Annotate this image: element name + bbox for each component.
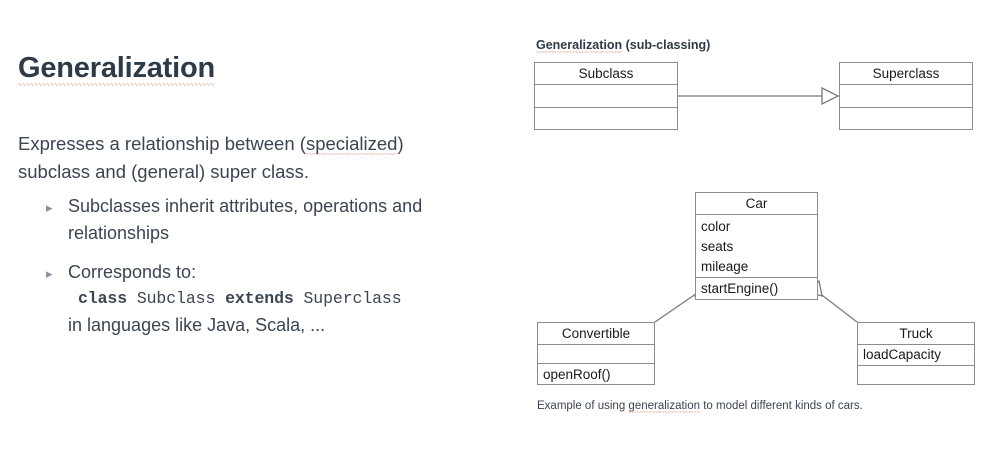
uml-attributes-compartment bbox=[840, 85, 972, 108]
uml-attribute: seats bbox=[701, 237, 817, 257]
bullet-list: ▸ Subclasses inherit attributes, operati… bbox=[18, 193, 488, 351]
uml-operations-compartment: openRoof() bbox=[538, 364, 654, 385]
uml-class-name: Car bbox=[696, 193, 817, 215]
uml-operations-compartment bbox=[858, 366, 974, 385]
list-item: ▸ Corresponds to: class Subclass extends… bbox=[18, 259, 488, 339]
code-identifier-superclass: Superclass bbox=[304, 289, 402, 308]
page-title: Generalization bbox=[18, 52, 215, 85]
uml-class-car: Car color seats mileage startEngine() bbox=[695, 192, 818, 300]
slide-left-content: Generalization Expresses a relationship … bbox=[0, 0, 500, 451]
uml-operations-compartment bbox=[840, 108, 972, 131]
uml-class-superclass: Superclass bbox=[839, 62, 973, 130]
uml-class-truck: Truck loadCapacity bbox=[857, 322, 975, 385]
slide-right-diagrams: Generalization (sub-classing) Subclass S… bbox=[500, 0, 999, 451]
intro-text-part1: Expresses a relationship between ( bbox=[18, 133, 306, 154]
code-space-2 bbox=[215, 289, 225, 308]
uml-class-name: Truck bbox=[858, 323, 974, 345]
uml-attribute: mileage bbox=[701, 257, 817, 277]
code-tail-text: in languages like Java, Scala, ... bbox=[68, 312, 488, 339]
code-space-1 bbox=[127, 289, 137, 308]
intro-misspelled-word: specialized bbox=[306, 133, 398, 155]
uml-operations-compartment bbox=[535, 108, 677, 131]
generalization-arrowhead-superclass bbox=[822, 88, 838, 104]
bullet-triangle-icon: ▸ bbox=[46, 194, 53, 221]
uml-class-name: Convertible bbox=[538, 323, 654, 345]
uml-attributes-compartment: color seats mileage bbox=[696, 215, 817, 278]
uml-attributes-compartment: loadCapacity bbox=[858, 345, 974, 366]
uml-attributes-compartment bbox=[535, 85, 677, 108]
uml-class-subclass: Subclass bbox=[534, 62, 678, 130]
uml-class-name: Subclass bbox=[535, 63, 677, 85]
uml-class-convertible: Convertible openRoof() bbox=[537, 322, 655, 385]
code-identifier-subclass: Subclass bbox=[137, 289, 215, 308]
uml-class-name: Superclass bbox=[840, 63, 972, 85]
code-keyword-class: class bbox=[78, 289, 127, 308]
code-keyword-extends: extends bbox=[225, 289, 294, 308]
page-title-text: Generalization bbox=[18, 52, 215, 86]
uml-attribute: color bbox=[701, 217, 817, 237]
bullet-triangle-icon: ▸ bbox=[46, 260, 53, 287]
list-item: ▸ Subclasses inherit attributes, operati… bbox=[18, 193, 488, 247]
code-snippet: class Subclass extends Superclass bbox=[68, 286, 488, 312]
list-item-label: Corresponds to: bbox=[68, 262, 196, 282]
uml-attributes-compartment bbox=[538, 345, 654, 364]
uml-operations-compartment: startEngine() bbox=[696, 278, 817, 301]
list-item-label: Subclasses inherit attributes, operation… bbox=[68, 196, 422, 243]
code-space-3 bbox=[294, 289, 304, 308]
intro-paragraph: Expresses a relationship between (specia… bbox=[18, 130, 478, 186]
